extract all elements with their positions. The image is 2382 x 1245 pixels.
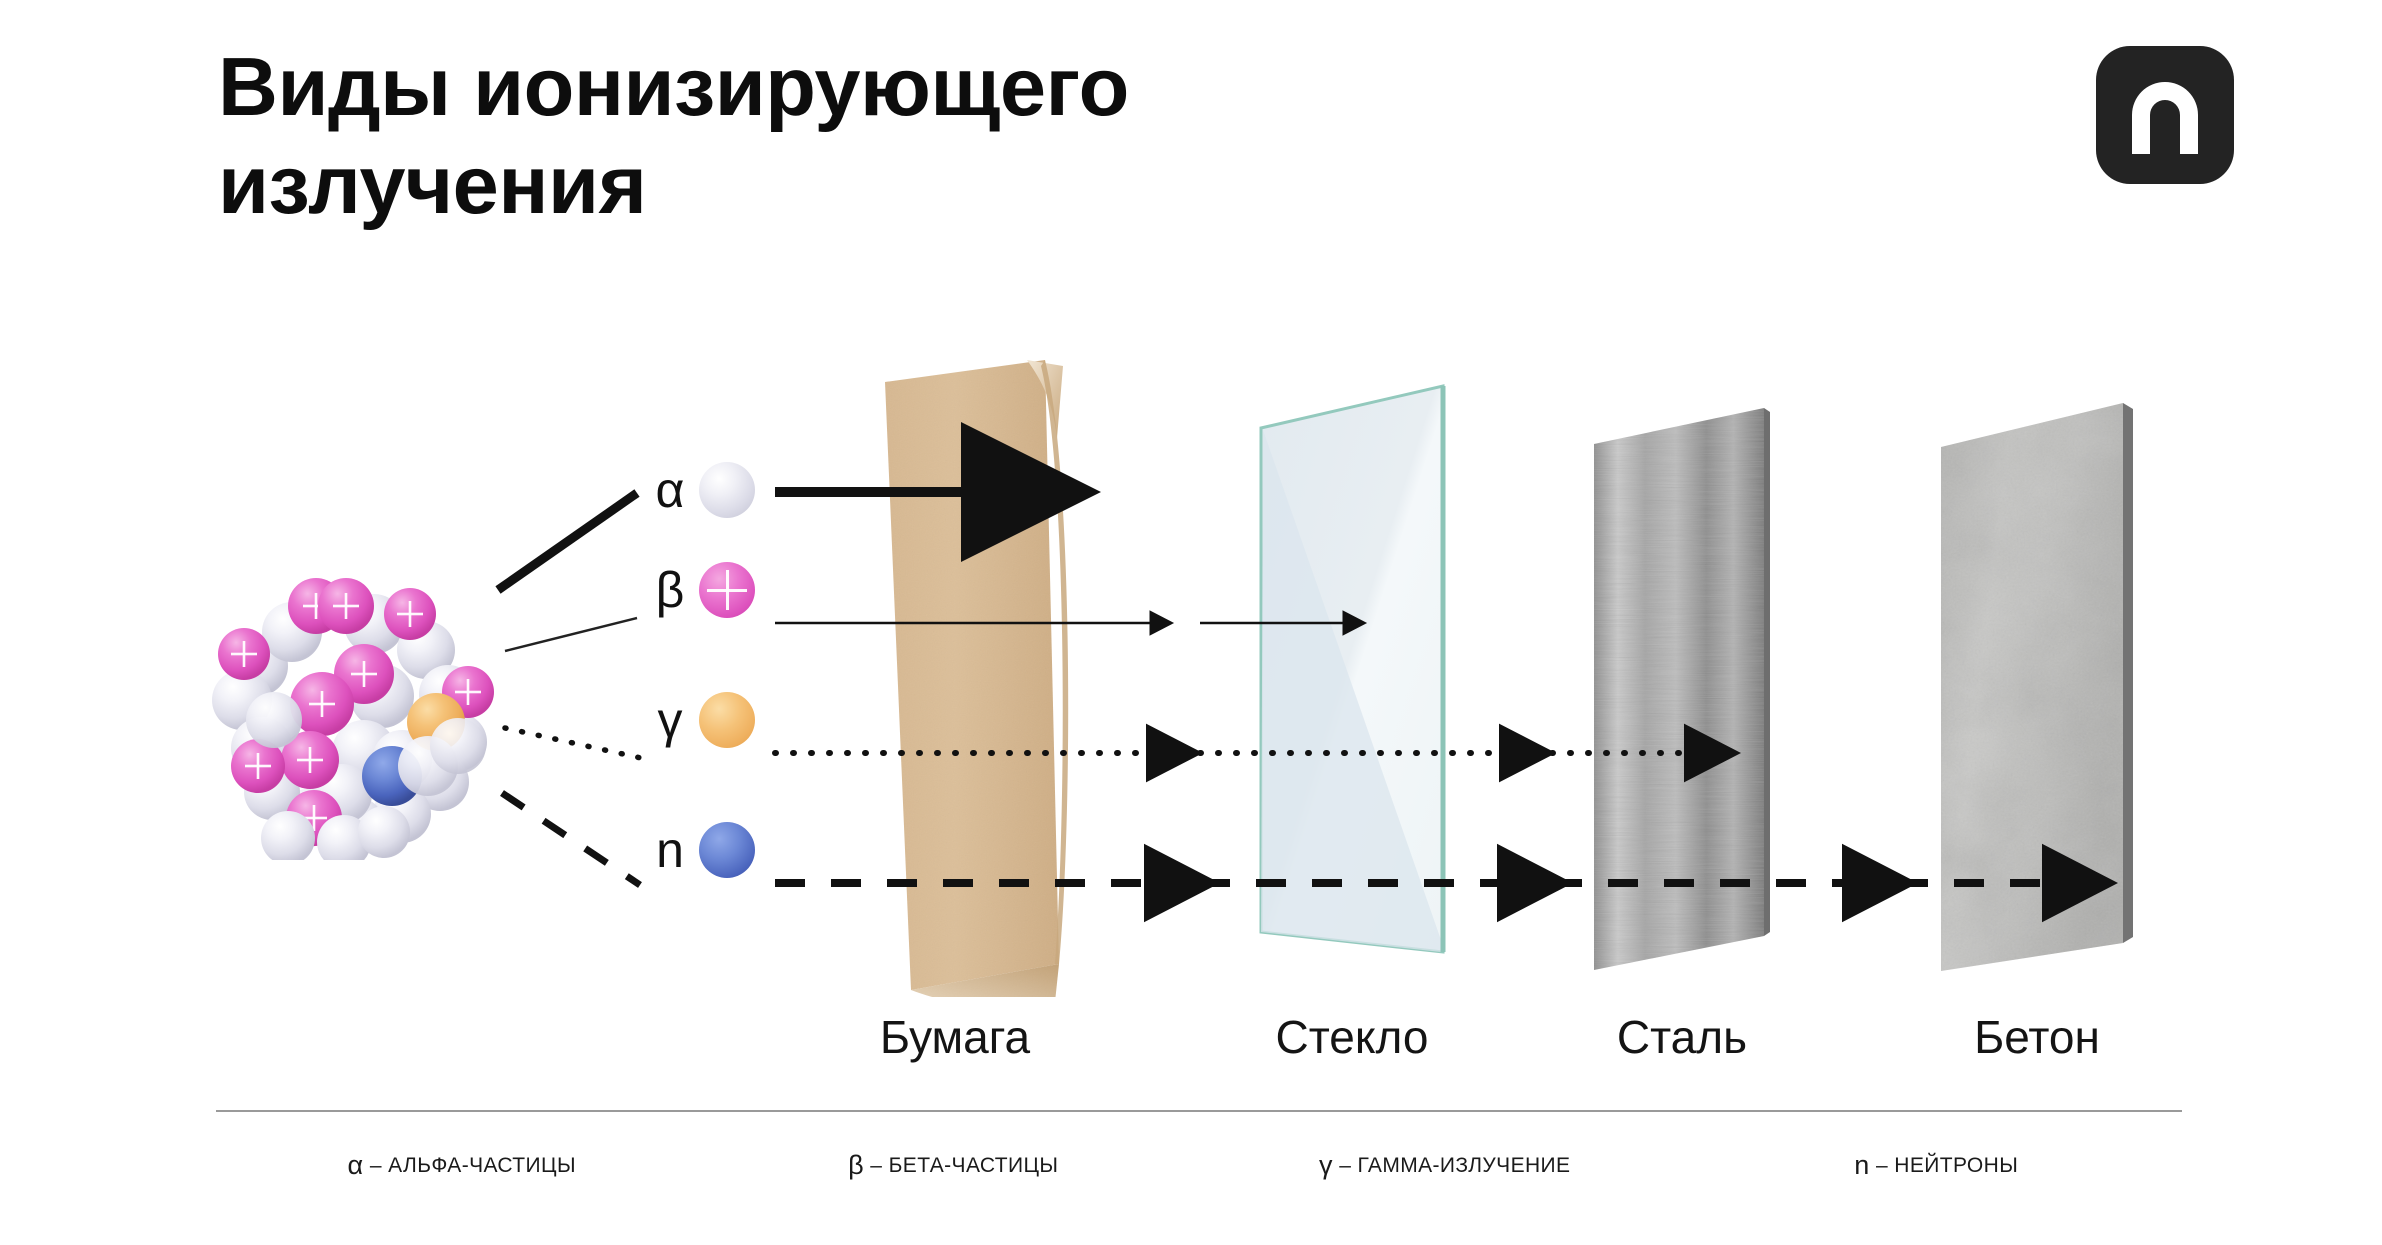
particle-gamma: γ xyxy=(653,685,755,755)
legend-text-neutron: НЕЙТРОНЫ xyxy=(1894,1154,2018,1177)
footer-divider xyxy=(216,1110,2182,1112)
connector-gamma xyxy=(505,728,641,758)
legend-dash-alpha: – xyxy=(370,1154,382,1177)
legend-item-beta: β – БЕТА-ЧАСТИЦЫ xyxy=(708,1150,1200,1181)
particle-symbol-beta: β xyxy=(653,565,687,615)
legend-symbol-beta: β xyxy=(848,1150,864,1180)
barrier-glass xyxy=(1257,380,1452,980)
legend-text-beta: БЕТА-ЧАСТИЦЫ xyxy=(889,1154,1059,1177)
legend-dash-beta: – xyxy=(870,1154,882,1177)
legend-item-alpha: α – АЛЬФА-ЧАСТИЦЫ xyxy=(216,1150,708,1181)
particle-ball-beta xyxy=(699,562,755,618)
radiation-diagram: Бумага Стекло xyxy=(0,0,2382,1245)
legend-symbol-alpha: α xyxy=(348,1150,364,1180)
particle-symbol-neutron: n xyxy=(653,825,687,875)
particle-symbol-gamma: γ xyxy=(653,695,687,745)
particle-neutron: n xyxy=(653,815,755,885)
legend-symbol-neutron: n xyxy=(1854,1150,1869,1180)
legend-dash-neutron: – xyxy=(1876,1154,1888,1177)
connector-alpha xyxy=(498,493,637,590)
legend-symbol-gamma: γ xyxy=(1319,1150,1333,1180)
legend-text-gamma: ГАММА-ИЗЛУЧЕНИЕ xyxy=(1358,1154,1571,1177)
particle-ball-neutron xyxy=(699,822,755,878)
legend-text-alpha: АЛЬФА-ЧАСТИЦЫ xyxy=(388,1154,576,1177)
barrier-paper xyxy=(877,352,1092,997)
legend-dash-gamma: – xyxy=(1339,1154,1351,1177)
connector-neutron xyxy=(502,793,640,885)
legend-item-neutron: n – НЕЙТРОНЫ xyxy=(1691,1150,2183,1181)
particle-beta: β xyxy=(653,555,755,625)
barrier-label-paper: Бумага xyxy=(775,1010,1135,1064)
atomic-nucleus xyxy=(196,570,496,860)
particle-ball-alpha xyxy=(699,462,755,518)
barrier-steel xyxy=(1592,388,1772,978)
particle-ball-gamma xyxy=(699,692,755,748)
plus-sign-icon xyxy=(707,570,747,610)
barrier-concrete xyxy=(1937,395,2137,980)
particle-symbol-alpha: α xyxy=(653,465,687,515)
legend: α – АЛЬФА-ЧАСТИЦЫ β – БЕТА-ЧАСТИЦЫ γ – Г… xyxy=(216,1150,2182,1181)
barrier-label-glass: Стекло xyxy=(1172,1010,1532,1064)
connector-beta xyxy=(505,618,637,651)
barrier-label-concrete: Бетон xyxy=(1857,1010,2217,1064)
barrier-label-steel: Сталь xyxy=(1502,1010,1862,1064)
particle-alpha: α xyxy=(653,455,755,525)
legend-item-gamma: γ – ГАММА-ИЗЛУЧЕНИЕ xyxy=(1199,1150,1691,1181)
